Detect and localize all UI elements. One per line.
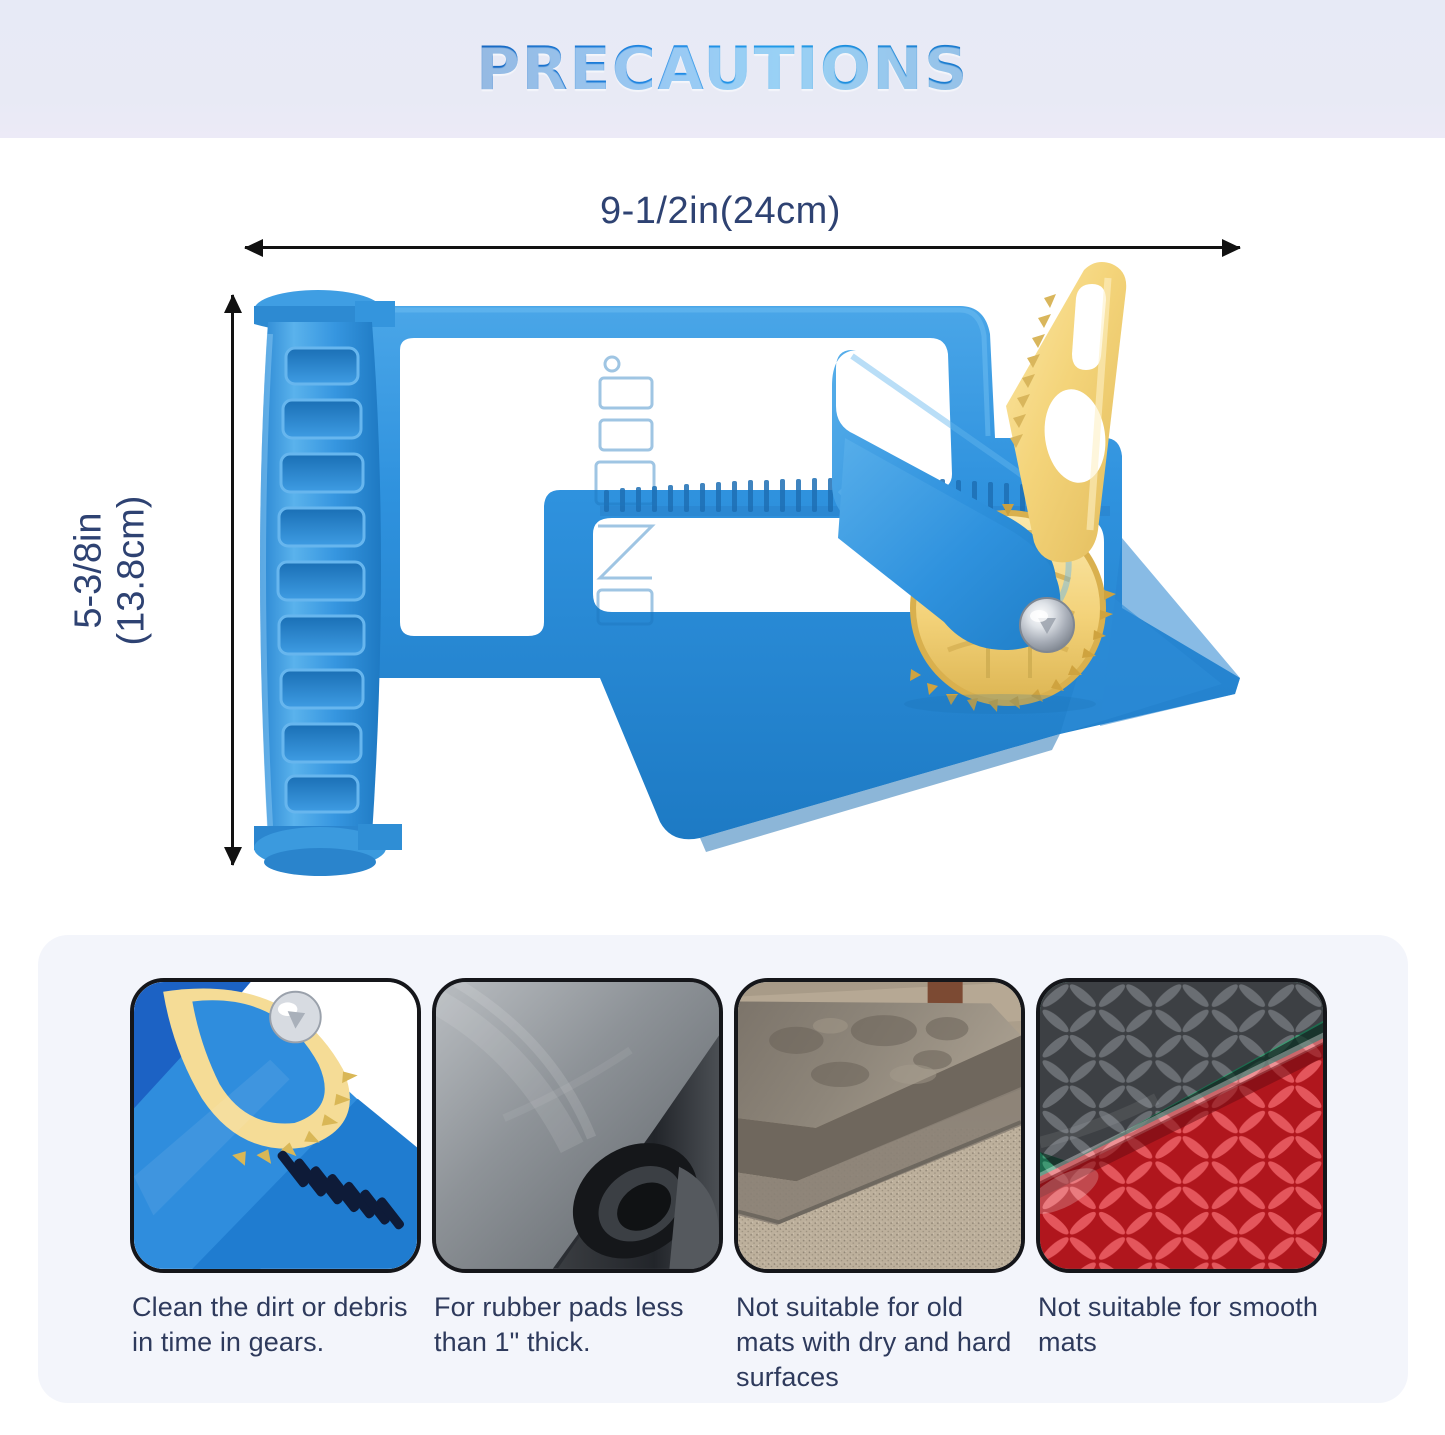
precaution-cards-panel: Clean the dirt or debris in time in gear… [38,935,1408,1403]
precautions-infographic: PRECAUTIONS 9-1/2in(24cm) 5-3/8in (13.8c… [0,0,1445,1435]
thumbnail-rolled-rubber-sheet[interactable] [432,978,723,1273]
tool-illustration [0,138,1445,928]
header-banner: PRECAUTIONS [0,0,1445,138]
handle-slots [278,348,364,812]
caption-row: Clean the dirt or debris in time in gear… [38,1290,1408,1395]
page-title: PRECAUTIONS [476,34,969,104]
caption-old-dry-mats: Not suitable for old mats with dry and h… [734,1290,1025,1395]
caption-gear-cleaning: Clean the dirt or debris in time in gear… [130,1290,421,1395]
caption-smooth-mats: Not suitable for smooth mats [1036,1290,1327,1395]
product-diagram: 9-1/2in(24cm) 5-3/8in (13.8cm) 1-3/4in (… [0,138,1445,928]
caption-rubber-thickness: For rubber pads less than 1" thick. [432,1290,723,1395]
thumbnail-diamond-plate-mats[interactable] [1036,978,1327,1273]
thumbnail-row [38,978,1408,1273]
thumbnail-gear-teeth-closeup[interactable] [130,978,421,1273]
thumbnail-old-dry-mat-on-concrete[interactable] [734,978,1025,1273]
